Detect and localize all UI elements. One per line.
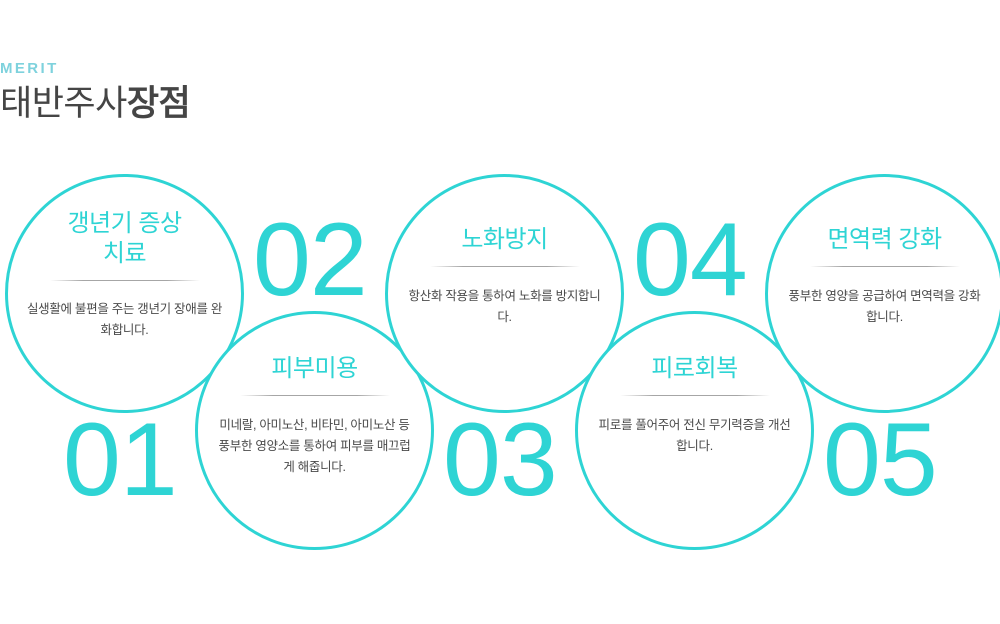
step-number-04: 04 xyxy=(633,208,747,312)
page-title: 태반주사장점 xyxy=(0,82,420,126)
merit-title-04: 피로회복 xyxy=(600,314,790,384)
page-header: MERIT 태반주사장점 xyxy=(0,60,420,126)
divider-01 xyxy=(50,280,200,281)
merit-title-01-line1: 갱년기 증상 xyxy=(67,210,181,237)
merit-desc-05: 풍부한 영양을 공급하여 면역력을 강화합니다. xyxy=(787,286,983,328)
divider-02 xyxy=(240,395,390,396)
divider-05 xyxy=(810,266,960,267)
page-title-bold: 장점 xyxy=(127,84,190,123)
merit-desc-03: 항산화 작용을 통하여 노화를 방지합니다. xyxy=(407,286,603,328)
merit-title-01: 갱년기 증상치료 xyxy=(30,177,220,269)
merit-title-03: 노화방지 xyxy=(410,177,600,255)
divider-03 xyxy=(430,266,580,267)
merit-desc-01: 실생활에 불편을 주는 갱년기 장애를 완화합니다. xyxy=(27,299,223,341)
merit-desc-02: 미네랄, 아미노산, 비타민, 아미노산 등 풍부한 영양소를 통하여 피부를 … xyxy=(217,415,413,478)
step-number-05: 05 xyxy=(823,408,937,512)
step-number-03: 03 xyxy=(443,408,557,512)
merit-title-05: 면역력 강화 xyxy=(790,177,980,255)
merit-title-01-line2: 치료 xyxy=(103,240,146,267)
merit-circle-05[interactable]: 면역력 강화 풍부한 영양을 공급하여 면역력을 강화합니다. xyxy=(765,174,1000,413)
eyebrow-label: MERIT xyxy=(0,60,420,78)
page-title-light: 태반주사 xyxy=(0,84,127,123)
merit-infographic: MERIT 태반주사장점 01 02 03 04 05 갱년기 증상치료 실생활… xyxy=(0,0,1000,624)
step-number-02: 02 xyxy=(253,208,367,312)
step-number-01: 01 xyxy=(63,408,177,512)
merit-title-02: 피부미용 xyxy=(220,314,410,384)
merit-desc-04: 피로를 풀어주어 전신 무기력증을 개선합니다. xyxy=(597,415,793,457)
divider-04 xyxy=(620,395,770,396)
